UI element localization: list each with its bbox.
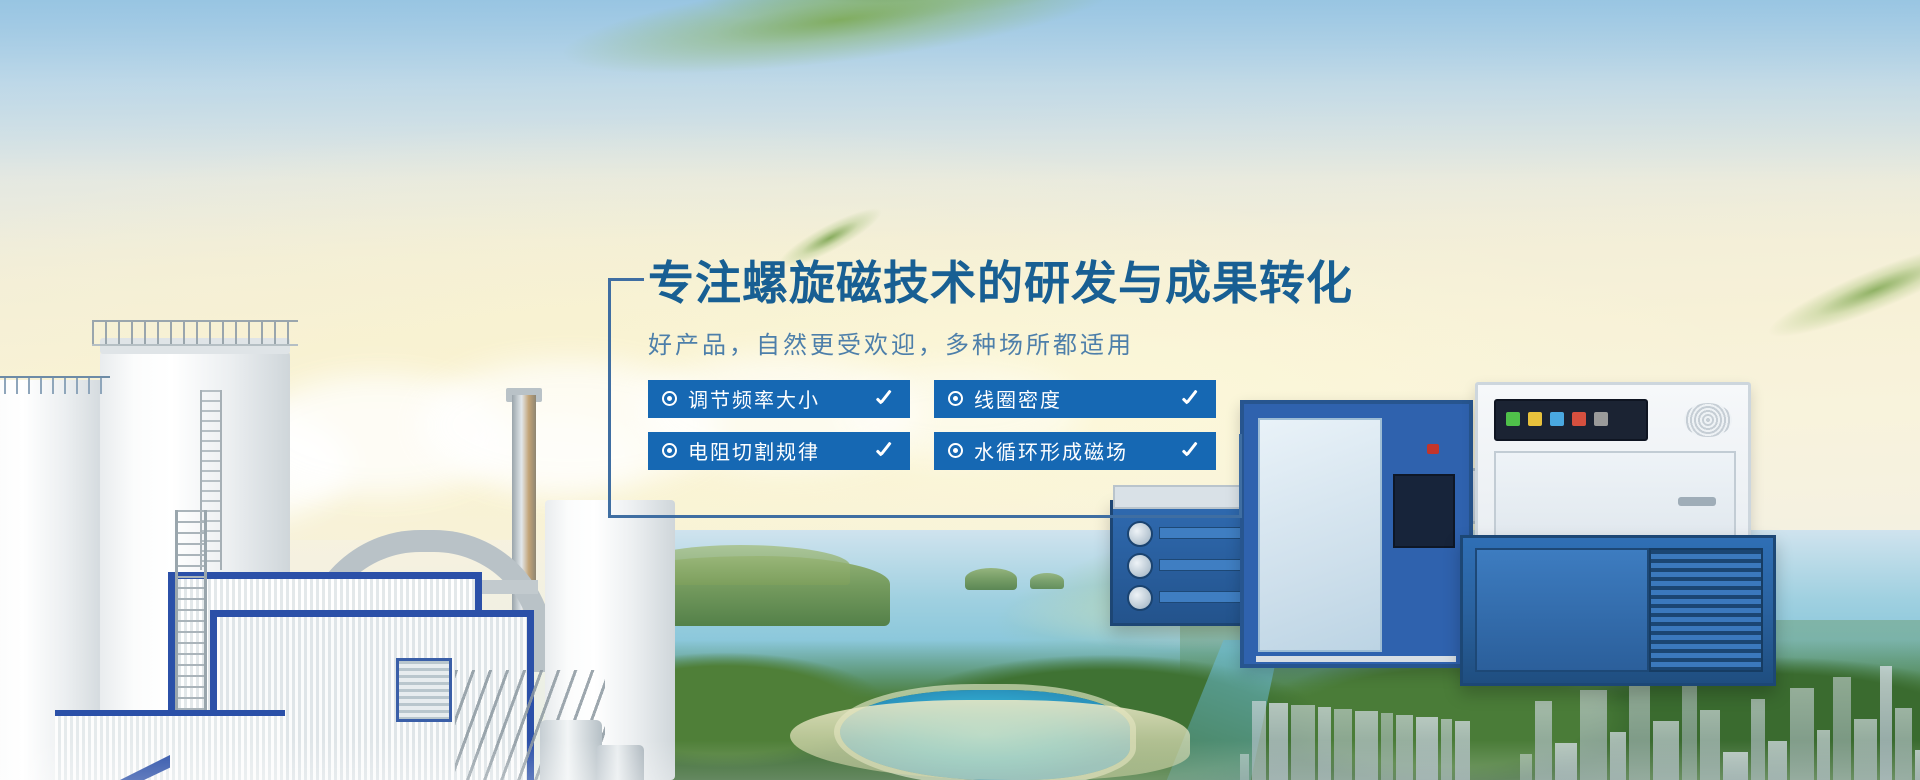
factory-window [396, 658, 452, 722]
machine-knob [1127, 585, 1153, 611]
islet [965, 568, 1017, 590]
banner-title: 专注螺旋磁技术的研发与成果转化 [648, 258, 1288, 309]
indicator-yellow [1528, 412, 1542, 426]
machine-grill [1649, 548, 1763, 672]
feature-badge[interactable]: 水循环形成磁场 [934, 432, 1216, 470]
radio-dot-icon [662, 443, 677, 458]
status-led [1427, 444, 1439, 454]
indicator-blue [1550, 412, 1564, 426]
radio-dot-icon [948, 391, 963, 406]
machine-control-panel [1393, 474, 1455, 548]
check-icon [1180, 388, 1202, 410]
feature-badge-label: 电阻切割规律 [688, 436, 864, 465]
machine-handle [1678, 497, 1716, 506]
machine-knob [1127, 553, 1153, 579]
indicator-grey [1594, 412, 1608, 426]
feature-badge-label: 水循环形成磁场 [974, 436, 1170, 465]
feature-badge[interactable]: 调节频率大小 [648, 380, 910, 418]
radio-dot-icon [662, 391, 677, 406]
check-icon [874, 388, 896, 410]
machine-knob [1127, 521, 1153, 547]
machine-base-strip [1256, 656, 1456, 662]
feature-badge-label: 调节频率大小 [688, 384, 864, 413]
banner-subtitle: 好产品，自然更受欢迎，多种场所都适用 [648, 325, 1288, 360]
machine-unit-dark-blue [1460, 535, 1776, 686]
machine-display-panel [1494, 399, 1648, 441]
indicator-red [1572, 412, 1586, 426]
feature-badge-label: 线圈密度 [974, 384, 1170, 413]
industrial-plant [0, 180, 640, 780]
banner-content: 专注螺旋磁技术的研发与成果转化 好产品，自然更受欢迎，多种场所都适用 调节频率大… [648, 258, 1288, 470]
check-icon [1180, 440, 1202, 462]
machine-vent-icon [1684, 403, 1732, 437]
silo-railing [0, 376, 110, 394]
check-icon [874, 440, 896, 462]
machine-front-face [1475, 548, 1649, 672]
feature-badge[interactable]: 电阻切割规律 [648, 432, 910, 470]
radio-dot-icon [948, 443, 963, 458]
silo-railing [92, 320, 298, 346]
feature-badge[interactable]: 线圈密度 [934, 380, 1216, 418]
feature-badge-list: 调节频率大小 线圈密度 电阻切割规律 水循环形成磁场 [648, 380, 1288, 470]
indicator-green [1506, 412, 1520, 426]
islet [1030, 573, 1064, 589]
hero-banner: 专注螺旋磁技术的研发与成果转化 好产品，自然更受欢迎，多种场所都适用 调节频率大… [0, 0, 1920, 780]
